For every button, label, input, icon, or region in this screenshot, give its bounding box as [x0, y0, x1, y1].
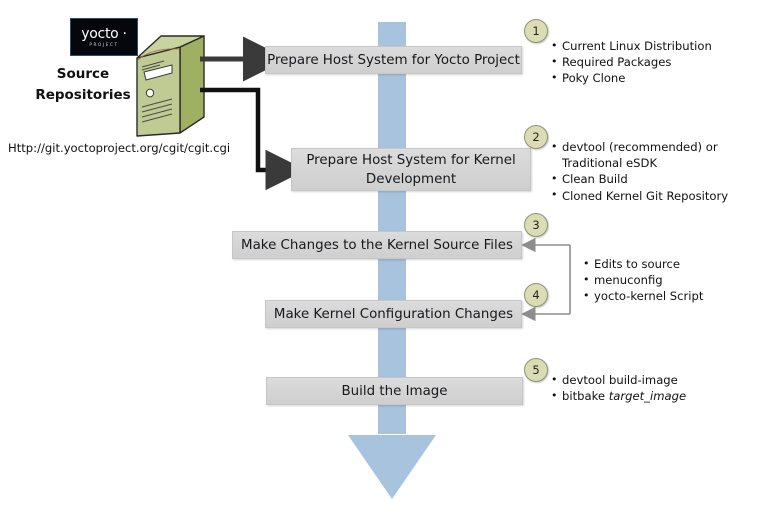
process-box-2-label: Prepare Host System for Kernel Developme…: [306, 151, 515, 189]
workflow-down-arrow-icon: [344, 433, 440, 501]
yocto-logo-wordmark: yocto ·: [81, 27, 126, 41]
list-item: menuconfig: [583, 272, 703, 288]
list-item: devtool (recommended) or: [551, 139, 728, 155]
process-box-2-label-line2: Development: [366, 172, 456, 187]
process-box-build-image[interactable]: Build the Image: [266, 377, 523, 405]
step-badge-1: 1: [524, 19, 548, 43]
step-badge-4: 4: [524, 283, 548, 307]
process-box-5-label: Build the Image: [341, 382, 447, 401]
list-item: Clean Build: [551, 171, 728, 187]
list-item: yocto-kernel Script: [583, 288, 703, 304]
process-box-2-label-line1: Prepare Host System for Kernel: [306, 153, 515, 168]
process-box-make-kernel-source-changes[interactable]: Make Changes to the Kernel Source Files: [232, 231, 522, 259]
workflow-spine: [378, 22, 406, 434]
process-box-prepare-host-yocto[interactable]: Prepare Host System for Yocto Project: [265, 46, 522, 74]
process-box-make-kernel-config-changes[interactable]: Make Kernel Configuration Changes: [265, 300, 522, 328]
process-box-4-label: Make Kernel Configuration Changes: [274, 305, 513, 324]
step3-step4-shared-bullet-list: Edits to source menuconfig yocto-kernel …: [583, 256, 703, 305]
list-item: Edits to source: [583, 256, 703, 272]
step1-bullet-list: Current Linux Distribution Required Pack…: [551, 38, 712, 87]
server-tower-icon: [134, 33, 206, 139]
list-item-continuation: Traditional eSDK: [551, 155, 728, 171]
yocto-project-logo: yocto · PROJECT: [70, 18, 138, 56]
bitbake-target-image-italic: target_image: [609, 389, 686, 403]
list-item: Required Packages: [551, 54, 712, 70]
source-repository-url: Http://git.yoctoproject.org/cgit/cgit.cg…: [8, 141, 230, 155]
source-label-line2: Repositories: [28, 85, 138, 106]
diagram-canvas: yocto · PROJECT Source Repositories Http…: [0, 0, 769, 517]
list-item: Current Linux Distribution: [551, 38, 712, 54]
bitbake-command-prefix: bitbake: [562, 389, 609, 403]
list-item: bitbake target_image: [551, 388, 686, 404]
connector-server-to-step2: [200, 90, 270, 170]
source-repositories-label: Source Repositories: [28, 64, 138, 106]
step5-bullet-list: devtool build-image bitbake target_image: [551, 372, 686, 404]
step-badge-3: 3: [524, 213, 548, 237]
list-item: devtool build-image: [551, 372, 686, 388]
process-box-1-label: Prepare Host System for Yocto Project: [267, 51, 520, 70]
process-box-prepare-host-kernel[interactable]: Prepare Host System for Kernel Developme…: [291, 148, 531, 191]
list-item: Cloned Kernel Git Repository: [551, 188, 728, 204]
step2-bullet-list: devtool (recommended) or Traditional eSD…: [551, 139, 728, 204]
step-badge-2: 2: [524, 125, 548, 149]
list-item: Poky Clone: [551, 70, 712, 86]
process-box-3-label: Make Changes to the Kernel Source Files: [241, 236, 513, 255]
step-badge-5: 5: [524, 358, 548, 382]
yocto-logo-subtitle: PROJECT: [89, 43, 118, 47]
source-label-line1: Source: [28, 64, 138, 85]
